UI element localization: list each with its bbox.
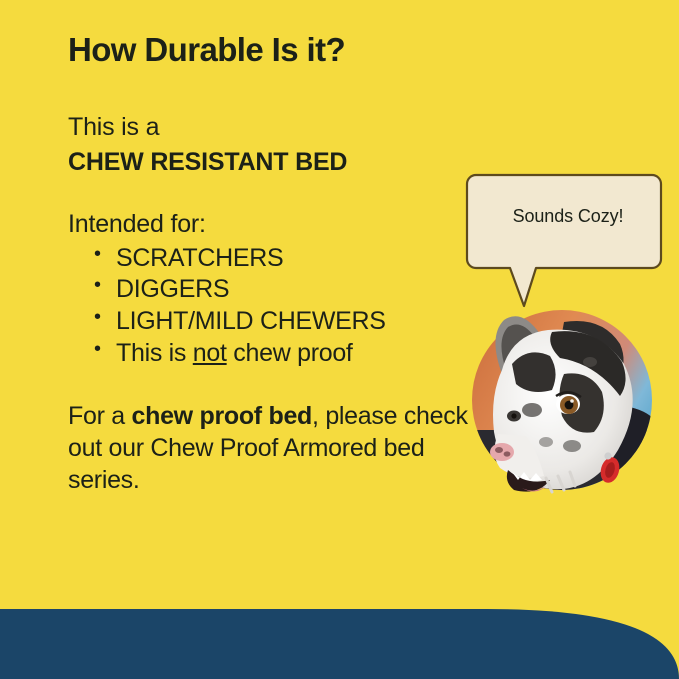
intended-for-label: Intended for: <box>68 209 386 240</box>
intended-for-block: Intended for: SCRATCHERS DIGGERS LIGHT/M… <box>68 209 386 370</box>
poster-canvas: How Durable Is it? This is a CHEW RESIST… <box>0 0 679 679</box>
closing-prefix: For a <box>68 402 132 430</box>
speech-bubble-shape <box>462 170 668 312</box>
dog-photo <box>468 300 656 505</box>
list-item: DIGGERS <box>94 274 386 306</box>
speech-bubble-text: Sounds Cozy! <box>484 206 652 227</box>
page-title: How Durable Is it? <box>68 32 345 68</box>
intro-block: This is a CHEW RESISTANT BED <box>68 112 347 177</box>
not-chew-proof-prefix: This is <box>116 339 193 367</box>
closing-emphasis: chew proof bed <box>132 402 313 430</box>
list-item: SCRATCHERS <box>94 243 386 275</box>
not-chew-proof-emphasis: not <box>193 339 227 367</box>
dog-head <box>490 316 633 492</box>
not-chew-proof-suffix: chew proof <box>227 339 353 367</box>
list-item: LIGHT/MILD CHEWERS <box>94 306 386 338</box>
speech-bubble: Sounds Cozy! <box>462 170 668 312</box>
intended-for-list: SCRATCHERS DIGGERS LIGHT/MILD CHEWERS Th… <box>68 243 386 370</box>
bottom-navy-band <box>0 609 679 679</box>
closing-paragraph: For a chew proof bed, please check out o… <box>68 400 468 496</box>
intro-line-2-product-type: CHEW RESISTANT BED <box>68 147 347 178</box>
list-item-not-chew-proof: This is not chew proof <box>94 338 386 370</box>
intro-line-1: This is a <box>68 112 347 143</box>
